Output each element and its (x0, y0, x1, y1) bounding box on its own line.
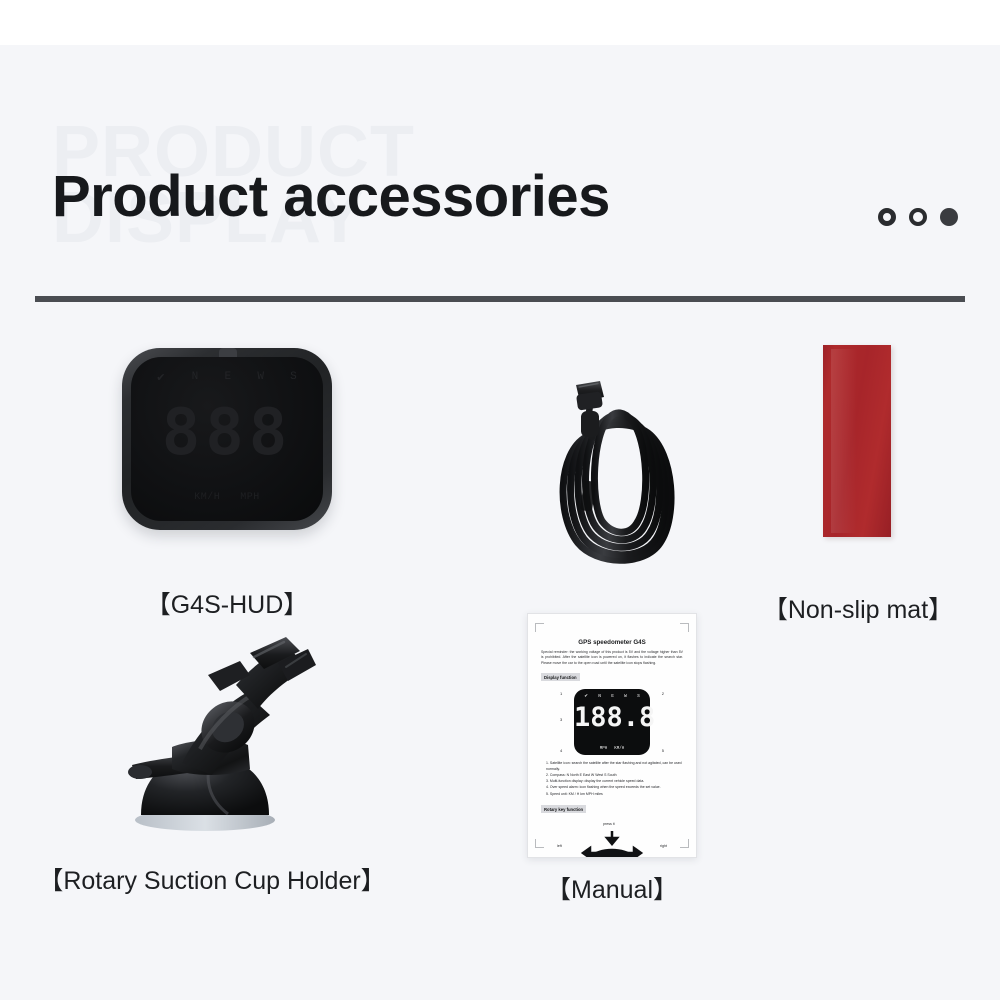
manual-indicator-south: S (637, 694, 640, 699)
hud-indicator-north: N (192, 371, 200, 385)
manual-callout-5: 5 (662, 748, 664, 753)
manual-feature-list: 1. Satellite icon: search the satellite … (541, 761, 683, 798)
manual-callout-1: 1 (560, 691, 562, 696)
product-display-page: PRODUCT DISPLAY Product accessories ✔ N … (0, 0, 1000, 1000)
usb-cable-illustration (548, 375, 698, 580)
hud-unit-mph: MPH (240, 492, 260, 503)
crop-mark-bottom-left (535, 839, 544, 848)
crop-mark-bottom-right (680, 839, 689, 848)
manual-unit-kmh: KM/H (614, 747, 624, 751)
product-suction-cup-holder[interactable]: 【Rotary Suction Cup Holder】 (100, 623, 320, 833)
caption-g4s-hud: 【G4S-HUD】 (112, 585, 342, 621)
product-g4s-hud[interactable]: ✔ N E W S 888 KM/H MPH 【G4S-HUD】 (122, 340, 332, 530)
manual-list-item-3: 3. Multi-function display: display the c… (546, 779, 683, 785)
manual-title: GPS speedometer G4S (541, 639, 683, 646)
product-micro-usb[interactable]: 【Micro USB】 (548, 375, 698, 585)
hud-indicator-east: E (224, 371, 232, 385)
product-non-slip-mat[interactable]: 【Non-slip mat】 (823, 345, 895, 539)
manual-callout-2: 2 (662, 691, 664, 696)
manual-indicator-west: W (624, 694, 627, 699)
content-panel: PRODUCT DISPLAY Product accessories ✔ N … (0, 45, 1000, 1000)
pagination-dots[interactable] (878, 208, 958, 226)
suction-cup-holder-illustration (100, 623, 320, 833)
manual-indicator-east: E (611, 694, 614, 699)
manual-indicator-satellite: ✔ (584, 694, 588, 699)
header-divider (35, 296, 965, 302)
manual-sheet: GPS speedometer G4S Special reminder: th… (527, 613, 697, 858)
crop-mark-top-left (535, 623, 544, 632)
pagination-dot-2[interactable] (909, 208, 927, 226)
mat-highlight (831, 349, 857, 533)
manual-list-item-1: 1. Satellite icon: search the satellite … (546, 761, 683, 773)
manual-intro-text: Special reminder: the working voltage of… (541, 650, 683, 666)
hud-device-body: ✔ N E W S 888 KM/H MPH (122, 348, 332, 530)
manual-callout-4: 4 (560, 748, 562, 753)
hud-indicator-west: W (257, 371, 265, 385)
non-slip-mat-body (823, 345, 891, 537)
manual-device-diagram: ✔ N E W S 188.8 MPH KM/H (574, 689, 650, 755)
manual-unit-mph: MPH (600, 747, 608, 751)
product-manual[interactable]: GPS speedometer G4S Special reminder: th… (527, 613, 697, 858)
pagination-dot-1[interactable] (878, 208, 896, 226)
hud-indicator-south: S (290, 371, 298, 385)
page-header: PRODUCT DISPLAY Product accessories (0, 45, 1000, 300)
hud-unit-kmh: KM/H (194, 492, 220, 503)
manual-section-rotary-key-function: Rotary key function (541, 805, 586, 813)
page-title: Product accessories (52, 163, 610, 230)
manual-list-item-5: 5. Speed unit: KM / H km MPH miles (546, 792, 683, 798)
manual-display-figure: 1 2 3 4 5 ✔ N E W S 188.8 (560, 689, 664, 755)
manual-figure-bottom-indicators: MPH KM/H (574, 747, 650, 751)
crop-mark-top-right (680, 623, 689, 632)
pagination-dot-3[interactable] (940, 208, 958, 226)
manual-callout-3: 3 (560, 717, 562, 722)
manual-list-item-2: 2. Compass: N North E East W West S Sout… (546, 773, 683, 779)
manual-figure-top-indicators: ✔ N E W S (574, 694, 650, 699)
manual-section-display-function: Display function (541, 673, 580, 681)
hud-indicator-satellite: ✔ (156, 371, 166, 385)
hud-screen: ✔ N E W S 888 KM/H MPH (131, 357, 323, 521)
hud-bottom-indicators: KM/H MPH (131, 492, 323, 503)
hud-speed-digits: 888 (131, 401, 323, 465)
caption-suction-cup-holder: 【Rotary Suction Cup Holder】 (37, 861, 387, 897)
manual-list-item-4: 4. Over speed alarm: icon flashing when … (546, 785, 683, 791)
manual-indicator-north: N (598, 694, 601, 699)
hud-top-indicators: ✔ N E W S (131, 371, 323, 385)
manual-key-diagram (557, 822, 667, 858)
manual-rotary-key-figure: press it left right turn button (557, 822, 667, 858)
caption-manual: 【Manual】 (472, 870, 752, 906)
caption-non-slip-mat: 【Non-slip mat】 (733, 590, 983, 626)
manual-figure-digits: 188.8 (574, 704, 650, 731)
